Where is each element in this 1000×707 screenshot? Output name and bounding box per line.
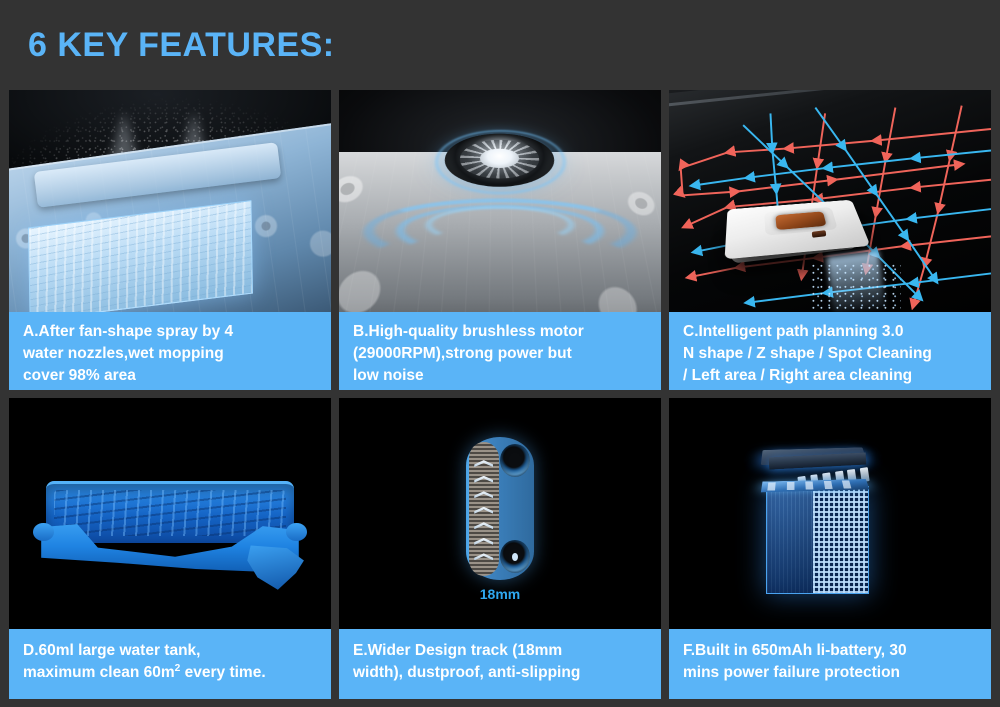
caption-d-pre: D.60ml large water tank, maximum clean 6… <box>23 642 200 681</box>
feature-caption-e: E.Wider Design track (18mm width), dustp… <box>339 629 661 699</box>
tank-lug-right <box>286 523 307 541</box>
caption-d-post: every time. <box>180 664 265 681</box>
battery-pack-image <box>669 398 991 629</box>
feature-grid-page: 6 KEY FEATURES: A.After fan-shape spray … <box>0 0 1000 707</box>
belt-wheel-top <box>500 444 530 477</box>
water-tank <box>41 481 299 592</box>
feature-card-e[interactable]: 18mm E.Wider Design track (18mm width), … <box>339 398 661 699</box>
feature-card-c[interactable]: C.Intelligent path planning 3.0 N shape … <box>669 90 991 390</box>
brushless-motor-image <box>339 90 661 312</box>
battery-cell-case <box>766 486 869 595</box>
robot-vacuum <box>727 192 862 261</box>
belt-wheel-bottom <box>500 540 530 573</box>
track-belt <box>466 437 534 580</box>
feature-card-a[interactable]: A.After fan-shape spray by 4 water nozzl… <box>9 90 331 390</box>
robot-spray-particles <box>811 263 901 312</box>
feature-caption-a: A.After fan-shape spray by 4 water nozzl… <box>9 312 331 390</box>
water-tank-image <box>9 398 331 629</box>
page-title: 6 KEY FEATURES: <box>28 26 335 65</box>
track-width-label: 18mm <box>339 586 661 602</box>
feature-card-d[interactable]: D.60ml large water tank, maximum clean 6… <box>9 398 331 699</box>
feature-caption-d: D.60ml large water tank, maximum clean 6… <box>9 629 331 699</box>
track-belt-image: 18mm <box>339 398 661 629</box>
tank-lug-left <box>33 523 54 541</box>
belt-chevron-pattern <box>471 460 497 560</box>
features-grid: A.After fan-shape spray by 4 water nozzl… <box>9 90 991 691</box>
path-planning-image <box>669 90 991 312</box>
water-spray-nozzles-image <box>9 90 331 312</box>
feature-caption-c: C.Intelligent path planning 3.0 N shape … <box>669 312 991 390</box>
feature-caption-b: B.High-quality brushless motor (29000RPM… <box>339 312 661 390</box>
feature-card-f[interactable]: F.Built in 650mAh li-battery, 30 mins po… <box>669 398 991 699</box>
feature-caption-f: F.Built in 650mAh li-battery, 30 mins po… <box>669 629 991 699</box>
feature-card-b[interactable]: B.High-quality brushless motor (29000RPM… <box>339 90 661 390</box>
